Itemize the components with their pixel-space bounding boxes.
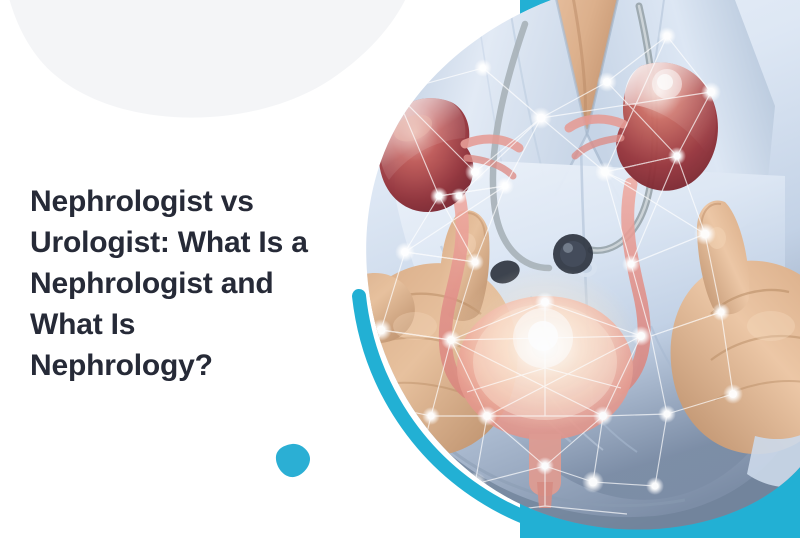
hero-photo xyxy=(355,0,800,538)
photo-content xyxy=(333,0,800,538)
banner-root: Nephrologist vs Urologist: What Is a Nep… xyxy=(0,0,800,538)
cyan-accent-blob-path xyxy=(276,444,310,477)
page-title: Nephrologist vs Urologist: What Is a Nep… xyxy=(30,181,370,386)
cyan-accent-blob xyxy=(274,442,312,480)
